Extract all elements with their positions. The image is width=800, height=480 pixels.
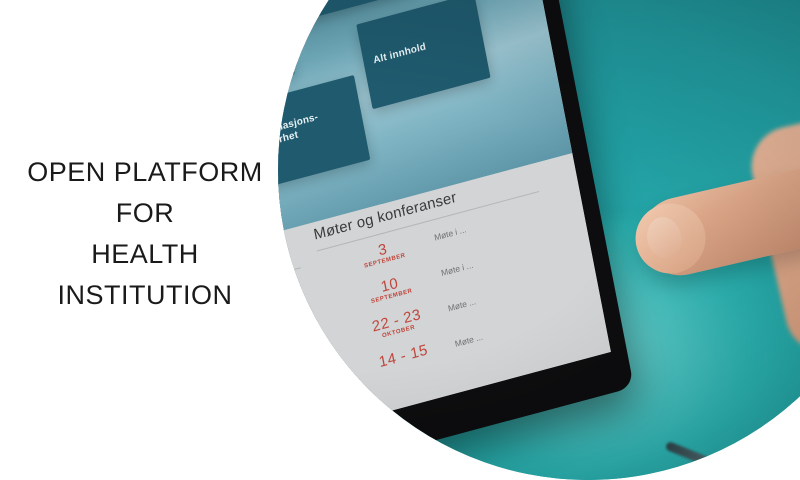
tile-alt-innhold[interactable]: Alt innhold xyxy=(356,0,490,109)
headline-line-2: FOR xyxy=(0,193,290,234)
tile-label: Informasjons- sikkerhet xyxy=(278,103,356,154)
list-item[interactable]: Nå kan fastlegen motta pasienter elektro… xyxy=(278,355,320,422)
tile-label: Standarder, kodeverk og referansekatalog xyxy=(278,17,282,79)
headline-line-4: INSTITUTION xyxy=(0,275,290,316)
tile-label: Alt innhold xyxy=(372,29,475,68)
headline-line-3: HEALTH xyxy=(0,234,290,275)
photo-scene: Nasjonale prosjekter innen ehelse Standa… xyxy=(278,0,800,480)
page-title: OPEN PLATFORM FOR HEALTH INSTITUTION xyxy=(0,152,290,316)
event-text: Møte i ... xyxy=(433,206,536,243)
fingernail xyxy=(643,214,686,263)
circular-photo: Nasjonale prosjekter innen ehelse Standa… xyxy=(278,0,800,480)
event-date: 3 SEPTEMBER xyxy=(344,232,424,274)
tile-informasjonssikkerhet[interactable]: Informasjons- sikkerhet xyxy=(278,75,370,191)
news-item-link[interactable]: Nå kan fastlegen motta pasienter elektro… xyxy=(278,355,320,418)
tile-standarder-kodeverk[interactable]: Standarder, kodeverk og referansekatalog xyxy=(278,0,295,106)
news-item-date xyxy=(278,370,321,422)
headline-line-1: OPEN PLATFORM xyxy=(0,152,290,193)
